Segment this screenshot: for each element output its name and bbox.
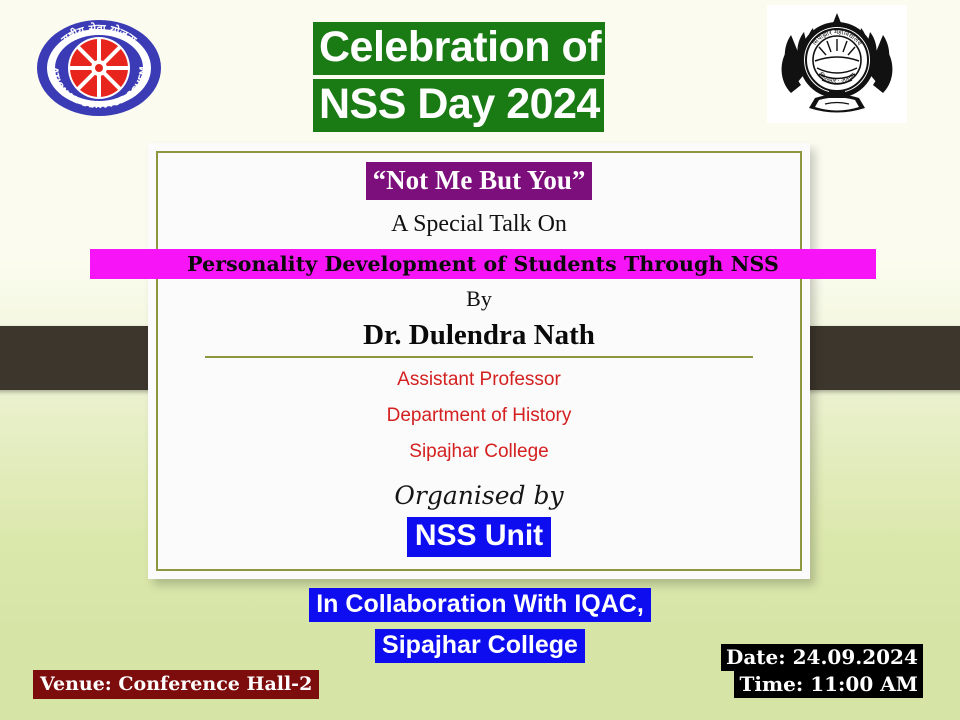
event-topic: Personality Development of Students Thro… (90, 249, 876, 279)
speaker-department: Department of History (387, 405, 572, 427)
title-line-1: Celebration of (313, 22, 605, 75)
speaker-institution: Sipajhar College (409, 441, 548, 463)
collaboration-line-1: In Collaboration With IQAC, (309, 588, 651, 622)
poster-title: Celebration of NSS Day 2024 (313, 22, 649, 132)
speaker-name: Dr. Dulendra Nath (363, 318, 595, 352)
title-line-2: NSS Day 2024 (313, 79, 604, 132)
collaboration-line-2: Sipajhar College (375, 629, 585, 663)
nss-logo-icon: राष्ट्रीय सेवा योजना NATIONAL SERVICE SC… (28, 16, 170, 120)
venue-label: Venue: Conference Hall-2 (33, 670, 319, 699)
organised-by-label: Organised by (394, 481, 563, 511)
event-date: Date: 24.09.2024 (721, 644, 923, 671)
event-time: Time: 11:00 AM (734, 671, 922, 698)
college-emblem-icon: सिपाझार महाविद्यालय सिपाझार · आसाम (767, 5, 907, 123)
by-label: By (466, 286, 492, 312)
speaker-designation: Assistant Professor (397, 369, 561, 391)
event-subtitle: A Special Talk On (391, 210, 567, 238)
speaker-divider (205, 356, 753, 358)
organiser-name: NSS Unit (407, 517, 551, 557)
datetime-block: Date: 24.09.2024 Time: 11:00 AM (721, 644, 923, 698)
poster-canvas: राष्ट्रीय सेवा योजना NATIONAL SERVICE SC… (0, 0, 960, 720)
ribbon-right-decoration (785, 326, 960, 390)
event-quote: “Not Me But You” (366, 162, 593, 200)
content-card: “Not Me But You” A Special Talk On By Dr… (148, 143, 810, 579)
